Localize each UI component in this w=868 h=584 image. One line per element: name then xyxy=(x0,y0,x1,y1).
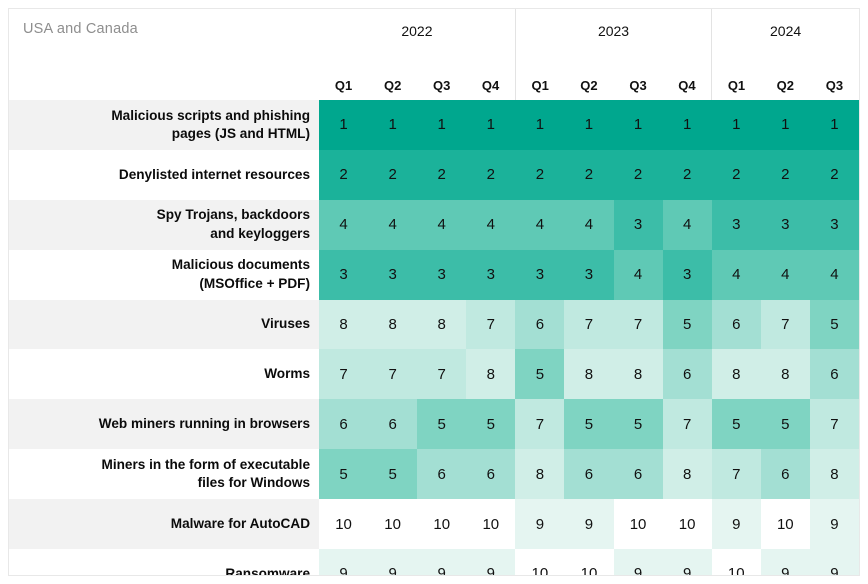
heatmap-cell: 2 xyxy=(761,150,810,200)
table-row: Worms77785886886 xyxy=(9,349,859,399)
column-header-2023-q2: Q2 xyxy=(564,58,613,100)
heatmap-cell: 7 xyxy=(810,399,859,449)
table-row: Malicious scripts and phishingpages (JS … xyxy=(9,100,859,150)
heatmap-cell: 6 xyxy=(417,449,466,499)
heatmap-cell: 9 xyxy=(761,549,810,576)
heatmap-cell: 5 xyxy=(761,399,810,449)
heatmap-cell: 9 xyxy=(319,549,368,576)
heatmap-cell: 8 xyxy=(319,300,368,350)
table-row: Malware for AutoCAD101010109910109109 xyxy=(9,499,859,549)
heatmap-cell: 3 xyxy=(515,250,564,300)
heatmap-cell: 3 xyxy=(810,200,859,250)
heatmap-cell: 8 xyxy=(515,449,564,499)
row-label-line: Web miners running in browsers xyxy=(99,416,310,431)
heatmap-cell: 5 xyxy=(712,399,761,449)
heatmap-cell: 1 xyxy=(712,100,761,150)
heatmap-cell: 10 xyxy=(368,499,417,549)
heatmap-cell: 7 xyxy=(466,300,515,350)
heatmap-cell: 4 xyxy=(761,250,810,300)
heatmap-cell: 9 xyxy=(368,549,417,576)
heatmap-cell: 1 xyxy=(810,100,859,150)
heatmap-cell: 5 xyxy=(663,300,712,350)
heatmap-cell: 10 xyxy=(712,549,761,576)
heatmap-cell: 8 xyxy=(761,349,810,399)
heatmap-cell: 8 xyxy=(417,300,466,350)
row-label-line: (MSOffice + PDF) xyxy=(199,276,310,291)
heatmap-cell: 2 xyxy=(614,150,663,200)
heatmap-cell: 2 xyxy=(810,150,859,200)
table-row: Web miners running in browsers6655755755… xyxy=(9,399,859,449)
year-group-2022: 2022 xyxy=(319,9,515,58)
heatmap-cell: 9 xyxy=(466,549,515,576)
heatmap-cell: 10 xyxy=(319,499,368,549)
heatmap-cell: 8 xyxy=(712,349,761,399)
row-label-line: Spy Trojans, backdoors xyxy=(157,207,310,222)
column-header-2022-q1: Q1 xyxy=(319,58,368,100)
heatmap-cell: 2 xyxy=(368,150,417,200)
year-header-row: USA and Canada 2022 2023 2024 xyxy=(9,9,859,58)
row-label-line: pages (JS and HTML) xyxy=(172,126,310,141)
heatmap-cell: 5 xyxy=(515,349,564,399)
table-row: Ransomware99991010991099 xyxy=(9,549,859,576)
heatmap-cell: 5 xyxy=(810,300,859,350)
screenshot-root: USA and Canada 2022 2023 2024 Q1 Q2 Q3 Q… xyxy=(0,0,868,584)
column-header-2023-q4: Q4 xyxy=(663,58,712,100)
heatmap-table: USA and Canada 2022 2023 2024 Q1 Q2 Q3 Q… xyxy=(9,9,859,576)
row-label-line: Ransomware xyxy=(225,566,310,576)
heatmap-cell: 9 xyxy=(515,499,564,549)
heatmap-cell: 1 xyxy=(466,100,515,150)
heatmap-cell: 6 xyxy=(761,449,810,499)
row-label-line: Malicious scripts and phishing xyxy=(111,108,310,123)
column-header-2022-q4: Q4 xyxy=(466,58,515,100)
heatmap-cell: 5 xyxy=(319,449,368,499)
heatmap-header: USA and Canada 2022 2023 2024 Q1 Q2 Q3 Q… xyxy=(9,9,859,100)
table-row: Miners in the form of executablefiles fo… xyxy=(9,449,859,499)
heatmap-cell: 9 xyxy=(614,549,663,576)
row-label: Viruses xyxy=(9,300,319,350)
row-label: Spy Trojans, backdoorsand keyloggers xyxy=(9,200,319,250)
heatmap-cell: 8 xyxy=(368,300,417,350)
heatmap-cell: 4 xyxy=(368,200,417,250)
heatmap-cell: 8 xyxy=(810,449,859,499)
row-label-line: Denylisted internet resources xyxy=(119,167,310,182)
heatmap-cell: 10 xyxy=(515,549,564,576)
row-label: Miners in the form of executablefiles fo… xyxy=(9,449,319,499)
heatmap-cell: 2 xyxy=(564,150,613,200)
heatmap-cell: 2 xyxy=(515,150,564,200)
heatmap-cell: 9 xyxy=(810,549,859,576)
heatmap-cell: 5 xyxy=(368,449,417,499)
row-label-line: Malicious documents xyxy=(172,257,310,272)
column-header-2023-q3: Q3 xyxy=(614,58,663,100)
heatmap-cell: 4 xyxy=(663,200,712,250)
heatmap-cell: 7 xyxy=(614,300,663,350)
heatmap-cell: 9 xyxy=(417,549,466,576)
heatmap-cell: 7 xyxy=(564,300,613,350)
heatmap-body: Malicious scripts and phishingpages (JS … xyxy=(9,100,859,576)
heatmap-cell: 3 xyxy=(368,250,417,300)
table-row: Viruses88876775675 xyxy=(9,300,859,350)
heatmap-cell: 10 xyxy=(663,499,712,549)
heatmap-cell: 10 xyxy=(761,499,810,549)
heatmap-cell: 1 xyxy=(564,100,613,150)
heatmap-cell: 5 xyxy=(466,399,515,449)
heatmap-cell: 4 xyxy=(564,200,613,250)
heatmap-cell: 3 xyxy=(663,250,712,300)
heatmap-cell: 7 xyxy=(368,349,417,399)
heatmap-cell: 4 xyxy=(614,250,663,300)
year-group-2024: 2024 xyxy=(712,9,859,58)
heatmap-cell: 7 xyxy=(663,399,712,449)
row-label: Malicious scripts and phishingpages (JS … xyxy=(9,100,319,150)
heatmap-cell: 1 xyxy=(368,100,417,150)
heatmap-cell: 9 xyxy=(712,499,761,549)
row-label: Malicious documents(MSOffice + PDF) xyxy=(9,250,319,300)
heatmap-cell: 2 xyxy=(319,150,368,200)
heatmap-cell: 8 xyxy=(466,349,515,399)
heatmap-cell: 3 xyxy=(417,250,466,300)
heatmap-cell: 5 xyxy=(417,399,466,449)
heatmap-cell: 4 xyxy=(810,250,859,300)
heatmap-cell: 5 xyxy=(614,399,663,449)
heatmap-cell: 9 xyxy=(564,499,613,549)
heatmap-cell: 9 xyxy=(810,499,859,549)
heatmap-cell: 10 xyxy=(466,499,515,549)
row-label: Malware for AutoCAD xyxy=(9,499,319,549)
heatmap-cell: 7 xyxy=(515,399,564,449)
heatmap-cell: 3 xyxy=(712,200,761,250)
heatmap-cell: 1 xyxy=(761,100,810,150)
heatmap-card: USA and Canada 2022 2023 2024 Q1 Q2 Q3 Q… xyxy=(8,8,860,576)
heatmap-cell: 3 xyxy=(761,200,810,250)
heatmap-cell: 7 xyxy=(417,349,466,399)
row-label: Web miners running in browsers xyxy=(9,399,319,449)
heatmap-cell: 4 xyxy=(319,200,368,250)
heatmap-cell: 3 xyxy=(614,200,663,250)
heatmap-cell: 10 xyxy=(564,549,613,576)
heatmap-cell: 1 xyxy=(663,100,712,150)
heatmap-cell: 6 xyxy=(810,349,859,399)
heatmap-cell: 2 xyxy=(712,150,761,200)
column-header-2022-q2: Q2 xyxy=(368,58,417,100)
row-label: Denylisted internet resources xyxy=(9,150,319,200)
heatmap-cell: 6 xyxy=(663,349,712,399)
page-title: USA and Canada xyxy=(9,9,319,100)
table-row: Malicious documents(MSOffice + PDF)33333… xyxy=(9,250,859,300)
heatmap-cell: 2 xyxy=(466,150,515,200)
heatmap-cell: 1 xyxy=(614,100,663,150)
row-label: Ransomware xyxy=(9,549,319,576)
heatmap-cell: 1 xyxy=(319,100,368,150)
row-label-line: files for Windows xyxy=(198,475,310,490)
heatmap-cell: 1 xyxy=(417,100,466,150)
heatmap-cell: 4 xyxy=(466,200,515,250)
row-label-line: Miners in the form of executable xyxy=(102,457,310,472)
heatmap-cell: 1 xyxy=(515,100,564,150)
heatmap-cell: 4 xyxy=(712,250,761,300)
row-label: Worms xyxy=(9,349,319,399)
heatmap-cell: 2 xyxy=(663,150,712,200)
column-header-2024-q1: Q1 xyxy=(712,58,761,100)
table-row: Spy Trojans, backdoorsand keyloggers4444… xyxy=(9,200,859,250)
heatmap-cell: 7 xyxy=(712,449,761,499)
heatmap-cell: 5 xyxy=(564,399,613,449)
heatmap-cell: 4 xyxy=(515,200,564,250)
heatmap-cell: 6 xyxy=(515,300,564,350)
year-group-2023: 2023 xyxy=(515,9,711,58)
row-label-line: Malware for AutoCAD xyxy=(171,516,310,531)
heatmap-cell: 2 xyxy=(417,150,466,200)
heatmap-cell: 4 xyxy=(417,200,466,250)
heatmap-cell: 6 xyxy=(614,449,663,499)
heatmap-cell: 7 xyxy=(761,300,810,350)
heatmap-cell: 10 xyxy=(417,499,466,549)
row-label-line: and keyloggers xyxy=(210,226,310,241)
heatmap-cell: 3 xyxy=(466,250,515,300)
heatmap-cell: 7 xyxy=(319,349,368,399)
heatmap-cell: 8 xyxy=(564,349,613,399)
heatmap-cell: 6 xyxy=(368,399,417,449)
row-label-line: Worms xyxy=(264,366,310,381)
heatmap-cell: 6 xyxy=(712,300,761,350)
heatmap-cell: 6 xyxy=(564,449,613,499)
column-header-2023-q1: Q1 xyxy=(515,58,564,100)
heatmap-cell: 9 xyxy=(663,549,712,576)
heatmap-cell: 8 xyxy=(663,449,712,499)
column-header-2024-q3: Q3 xyxy=(810,58,859,100)
column-header-2024-q2: Q2 xyxy=(761,58,810,100)
table-row: Denylisted internet resources22222222222 xyxy=(9,150,859,200)
row-label-line: Viruses xyxy=(261,316,310,331)
column-header-2022-q3: Q3 xyxy=(417,58,466,100)
heatmap-cell: 8 xyxy=(614,349,663,399)
heatmap-cell: 6 xyxy=(466,449,515,499)
heatmap-cell: 3 xyxy=(319,250,368,300)
heatmap-cell: 10 xyxy=(614,499,663,549)
heatmap-cell: 3 xyxy=(564,250,613,300)
heatmap-cell: 6 xyxy=(319,399,368,449)
